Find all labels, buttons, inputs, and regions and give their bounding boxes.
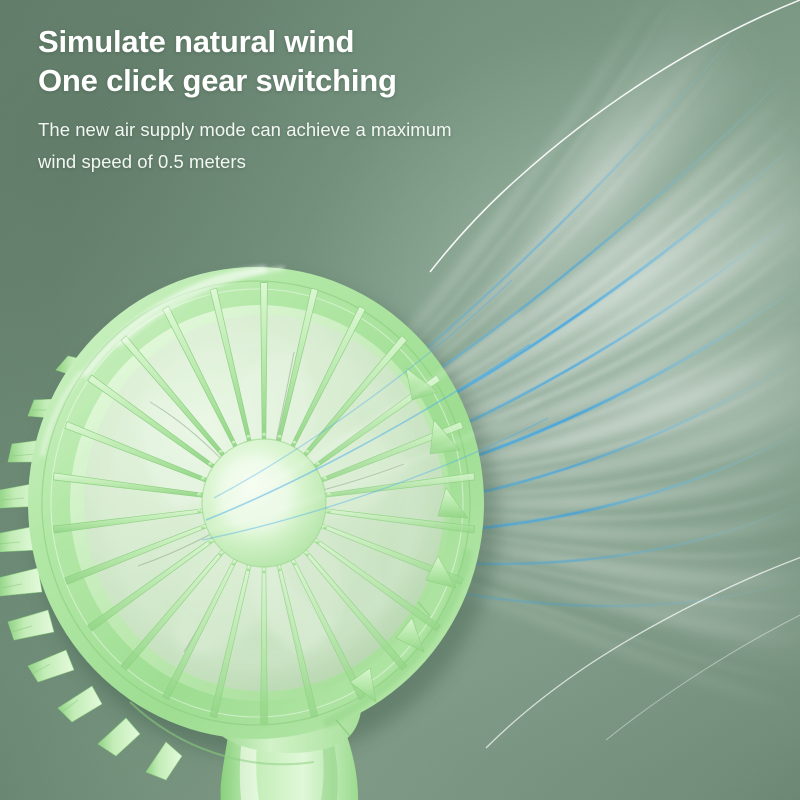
grille-spoke-cap	[246, 567, 250, 571]
grille-spoke-cap	[208, 540, 212, 544]
fan-center-hub	[202, 439, 326, 567]
grille-spoke-cap	[327, 493, 331, 497]
headline-line-2: One click gear switching	[38, 61, 578, 100]
grille-spoke-cap	[232, 561, 236, 565]
grille-spoke-cap	[278, 567, 282, 571]
mini-fan-product-image	[0, 250, 558, 800]
subcopy-line-2: wind speed of 0.5 meters	[38, 146, 578, 178]
grille-spoke	[261, 283, 268, 440]
subcopy-line-1: The new air supply mode can achieve a ma…	[38, 119, 452, 140]
grille-spoke-cap	[305, 552, 309, 556]
grille-spoke-cap	[262, 569, 266, 573]
product-banner: Simulate natural wind One click gear swi…	[0, 0, 800, 800]
grille-spoke-cap	[201, 477, 205, 481]
grille-spoke-cap	[232, 441, 236, 445]
grille-spoke-cap	[327, 509, 331, 513]
marketing-copy: Simulate natural wind One click gear swi…	[38, 22, 578, 178]
grille-spoke-cap	[305, 450, 309, 454]
grille-spoke-cap	[246, 435, 250, 439]
grille-spoke-cap	[262, 433, 266, 437]
grille-spoke-cap	[323, 525, 327, 529]
grille-spoke-cap	[292, 441, 296, 445]
grille-spoke-cap	[278, 435, 282, 439]
grille-spoke-cap	[323, 477, 327, 481]
grille-spoke-cap	[219, 450, 223, 454]
grille-spoke-cap	[208, 462, 212, 466]
grille-spoke-cap	[292, 561, 296, 565]
grille-spoke-cap	[197, 509, 201, 513]
grille-spoke-cap	[316, 540, 320, 544]
headline-line-1: Simulate natural wind	[38, 22, 578, 61]
grille-spoke-cap	[219, 552, 223, 556]
grille-spoke-cap	[197, 493, 201, 497]
grille-spoke-cap	[201, 525, 205, 529]
grille-spoke	[261, 567, 268, 724]
subcopy: The new air supply mode can achieve a ma…	[38, 114, 578, 178]
grille-spoke-cap	[316, 462, 320, 466]
